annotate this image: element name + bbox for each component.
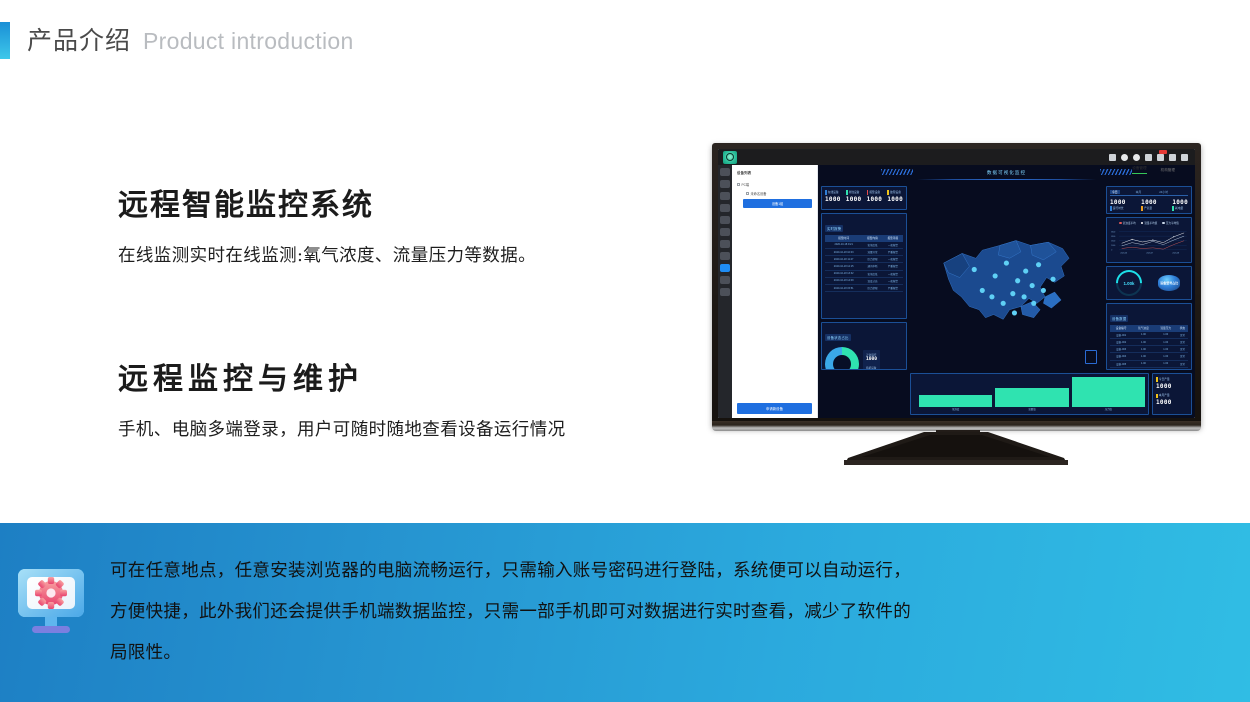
help-icon[interactable] [1133, 154, 1140, 161]
topbar-icon-group [1109, 154, 1191, 161]
kpi-label: 运行时长 [1113, 207, 1124, 210]
cell: 1.00 [1155, 346, 1177, 353]
kpi-label: 本月产量 [1159, 394, 1170, 397]
table-row: 2020-10-18 13:32氧浓度低一般报警 [825, 270, 903, 277]
cell: 正常 [1177, 353, 1188, 360]
trend-chart-panel: 氧浓度平均 流量平均值 压力平均值 [1106, 217, 1192, 263]
legend-label: 停机设备 [866, 367, 876, 370]
cell: 一般报警 [883, 277, 903, 284]
x-tick: 压力值 [1072, 407, 1145, 411]
dashboard: 设备列表 PC端 未命名设备 [718, 149, 1195, 418]
kpi-item: 报警设备 1000 [867, 190, 883, 203]
cell: 正常 [1177, 360, 1188, 367]
right-kpi-panel: 今日 本月 24小时 1000 运行时长 [1106, 186, 1192, 214]
table-row: 2020-10-18 10:03流量异常严重报警 [825, 248, 903, 255]
dashboard-main: 设备列表 PC端 未命名设备 [732, 165, 1195, 418]
cell: 严重报警 [883, 284, 903, 291]
home-icon[interactable] [720, 168, 730, 176]
cell: 1.00 [1155, 332, 1177, 339]
table-row: 设备-0041.001.00正常 [1110, 353, 1188, 360]
trophy-icon[interactable] [1109, 154, 1116, 161]
bar [995, 388, 1068, 408]
viz-center-column [910, 186, 1103, 370]
kpi-value: 1000 [1110, 199, 1126, 206]
cell: 正常 [1177, 367, 1188, 370]
svg-text:1000: 1000 [1111, 244, 1115, 246]
cell: 1.00 [1155, 338, 1177, 345]
feature-block-1: 远程智能监控系统 在线监测实时在线监测:氧气浓度、流量压力等数据。 [118, 184, 536, 270]
cell: 2020-10-18 9:21 [825, 242, 862, 249]
gauge-box: 1.00k [1110, 270, 1148, 296]
message-icon[interactable] [1121, 154, 1128, 161]
legend-value: 1000 [866, 357, 877, 362]
viz-title: 数据可视化监控 [987, 170, 1026, 176]
viz-right-column: 今日 本月 24小时 1000 运行时长 [1106, 186, 1192, 370]
cell: 1.00 [1155, 367, 1177, 370]
hatch-decoration-left [881, 169, 913, 175]
kpi-value: 1000 [1172, 199, 1188, 206]
dashboard-topbar [718, 149, 1195, 165]
kpi-value: 1000 [867, 196, 883, 203]
feature-description: 手机、电脑多端登录，用户可随时随地查看设备运行情况 [118, 416, 566, 444]
x-tick: 2020-06 [1120, 252, 1126, 254]
dashboard-body: 设备列表 PC端 未命名设备 [718, 165, 1195, 418]
cell: 压力超限 [862, 256, 882, 263]
column-header: 状态 [1177, 325, 1188, 332]
x-tick: 流量值 [995, 407, 1068, 411]
cell: 设备-003 [1110, 346, 1132, 353]
trend-line-chart: 35002500 150010000 [1110, 227, 1188, 257]
cell: 2020-10-18 12:15 [825, 263, 862, 270]
bar-chart-panel: 氧浓度 流量值 压力值 [910, 373, 1149, 415]
cell: 压力超限 [862, 284, 882, 291]
kpi-item: 1000 产氧量 [1141, 198, 1157, 211]
tree-node[interactable]: PC端 [737, 182, 812, 187]
cell: 一般报警 [883, 270, 903, 277]
cell: 设备-006 [1110, 367, 1132, 370]
column-header: 报警内容 [862, 235, 882, 242]
legend-label: 氧浓度平均 [1123, 221, 1136, 225]
tab-device-management[interactable]: 设备管理 [1132, 166, 1146, 174]
table-header-row: 设备编号 氧气浓度 流量压力 状态 [1110, 325, 1188, 332]
legend-label: 流量平均值 [1144, 221, 1157, 225]
cell: 一般报警 [883, 242, 903, 249]
table-row: 设备-0051.001.00正常 [1110, 360, 1188, 367]
legend-item: 流量平均值 [1141, 221, 1158, 225]
apply-new-device-button[interactable]: 申请新设备 [737, 403, 812, 414]
kpi-item: 离线设备 1000 [846, 190, 862, 203]
mail-icon[interactable] [1145, 154, 1152, 161]
cell: 氧浓度低 [862, 270, 882, 277]
info-line: 方便快捷，此外我们还会提供手机端数据监控，只需一部手机即可对数据进行实时查看，减… [110, 592, 1180, 633]
note-icon[interactable] [720, 216, 730, 224]
tv-stand [806, 432, 1106, 466]
kpi-label: 故障设备 [890, 191, 901, 194]
cell: 设备-001 [1110, 332, 1132, 339]
bell-icon[interactable] [1157, 154, 1164, 161]
kpi-item: 在线设备 1000 [825, 190, 841, 203]
kpi-value: 1000 [1156, 383, 1188, 390]
viz-bottom-strip: 氧浓度 流量值 压力值 今日产量 1000 [821, 373, 1192, 415]
user-icon[interactable] [720, 240, 730, 248]
page-title: 产品介绍 [27, 22, 131, 59]
tree-node-label: PC端 [742, 182, 750, 187]
kpi-label: 离线设备 [849, 191, 860, 194]
viz-grid: 在线设备 1000 离线设备 1000 [821, 186, 1192, 370]
table-row: 2020-10-18 14:09温度过高一般报警 [825, 277, 903, 284]
cell: 1.00 [1132, 367, 1154, 370]
panel-icon[interactable] [1181, 154, 1188, 161]
bar-x-labels: 氧浓度 流量值 压力值 [914, 407, 1145, 411]
kpi-item: 今日产量 1000 [1156, 377, 1188, 390]
monitor-gear-icon [12, 565, 90, 637]
user-icon[interactable] [1169, 154, 1176, 161]
production-gauge: 1.00k [1110, 266, 1147, 300]
cell: 2020-10-18 14:09 [825, 277, 862, 284]
tv-monitor: 设备列表 PC端 未命名设备 [706, 138, 1206, 468]
table-row: 设备-0031.001.00正常 [1110, 346, 1188, 353]
trend-legend: 氧浓度平均 流量平均值 压力平均值 [1110, 221, 1188, 225]
x-tick: 2020-07 [1146, 252, 1152, 254]
tab-month[interactable]: 本月 [1136, 190, 1142, 194]
svg-text:2500: 2500 [1111, 235, 1115, 237]
hatch-decoration-right [1100, 169, 1132, 175]
kpi-label: 今日产量 [1159, 378, 1170, 381]
cell: 设备-004 [1110, 353, 1132, 360]
donut-chart [825, 347, 859, 370]
cell: 1.00 [1132, 338, 1154, 345]
cell: 2020-10-18 15:51 [825, 284, 862, 291]
gauge-panel: 1.00k 设备型号占比 [1106, 266, 1192, 300]
table-row: 2020-10-18 12:15通讯中断严重报警 [825, 263, 903, 270]
info-line: 可在任意地点，任意安装浏览器的电脑流畅运行，只需输入账号密码进行登陆，系统便可以… [110, 551, 1180, 592]
cell: 1.00 [1132, 332, 1154, 339]
tree-node-label: 未命名设备 [751, 191, 767, 196]
gauge-value: 1.00k [1123, 281, 1134, 286]
bar [919, 395, 992, 407]
gear-icon[interactable] [720, 276, 730, 284]
kpi-label: 在线设备 [828, 191, 839, 194]
cell: 1.00 [1155, 360, 1177, 367]
table-row: 2020-10-18 9:21氧浓度低一般报警 [825, 242, 903, 249]
china-map-icon [926, 201, 1087, 354]
table-row: 设备-0011.001.00正常 [1110, 332, 1188, 339]
device-tree-title: 设备列表 [737, 170, 812, 175]
pie3d-label: 设备型号占比 [1160, 281, 1178, 285]
donut-legend: 正常运行 1000 停机设备 1000 [863, 350, 880, 370]
alarm-table: 报警时间 报警内容 报警等级 2020-10-18 9:21氧浓度低一般报警 2… [825, 235, 903, 292]
table-row: 设备-0021.001.00正常 [1110, 338, 1188, 345]
pie3d-box: 设备型号占比 [1151, 270, 1189, 296]
map-panel [910, 186, 1103, 370]
header-accent-bar [0, 22, 10, 59]
feature-title: 远程监控与维护 [118, 358, 566, 402]
kpi-item: 1000 运行时长 [1110, 198, 1126, 211]
cell: 流量异常 [862, 248, 882, 255]
cell: 严重报警 [883, 263, 903, 270]
donut-legend-item: 停机设备 1000 [866, 366, 877, 370]
device-icon[interactable] [720, 180, 730, 188]
tree-node-label: 设备1组 [772, 201, 783, 206]
cell: 1.00 [1132, 346, 1154, 353]
donut-legend-item: 正常运行 1000 [866, 353, 877, 362]
data-table-header: 设备数据 [1110, 315, 1128, 322]
cell: 通讯中断 [862, 263, 882, 270]
svg-text:0: 0 [1111, 249, 1112, 251]
svg-text:1500: 1500 [1111, 240, 1115, 242]
page-header: 产品介绍 Product introduction [0, 0, 1250, 90]
column-header: 报警等级 [883, 235, 903, 242]
visualization-board: 数据可视化监控 在线设 [818, 165, 1195, 418]
feature-description: 在线监测实时在线监测:氧气浓度、流量压力等数据。 [118, 242, 536, 270]
tab-24h[interactable]: 24小时 [1159, 190, 1168, 194]
right-kpi-tabs: 今日 本月 24小时 [1110, 190, 1188, 196]
legend-item: 压力平均值 [1162, 221, 1179, 225]
bar [1072, 377, 1145, 407]
info-band: 可在任意地点，任意安装浏览器的电脑流畅运行，只需输入账号密码进行登陆，系统便可以… [0, 523, 1250, 702]
legend-item: 氧浓度平均 [1119, 221, 1136, 225]
alarm-table-panel: 实时报警 报警时间 报警内容 报警等级 [821, 213, 907, 319]
device-tree-list: PC端 未命名设备 设备1组 [737, 182, 812, 208]
kpi-panel: 在线设备 1000 离线设备 1000 [821, 186, 907, 210]
kpi-item: 本月产量 1000 [1156, 394, 1188, 407]
checkbox-icon[interactable] [737, 183, 740, 186]
tv-screen: 设备列表 PC端 未命名设备 [718, 149, 1195, 418]
kpi-item: 1000 耗电量 [1172, 198, 1188, 211]
cloud-icon[interactable] [720, 252, 730, 260]
cell: 正常 [1177, 338, 1188, 345]
cell: 严重报警 [883, 248, 903, 255]
tab-org-management[interactable]: 机构管理 [1161, 168, 1175, 173]
alarm-table-header: 实时报警 [825, 225, 843, 232]
cell: 一般报警 [883, 256, 903, 263]
right-kpi-row: 1000 运行时长 1000 产氧量 [1110, 198, 1188, 211]
kpi-value: 1000 [1156, 399, 1188, 406]
column-header: 流量压力 [1155, 325, 1177, 332]
donut-panel: 设备状态占比 正常运行 1000 [821, 322, 907, 370]
cell: 1.00 [1132, 360, 1154, 367]
settings-icon[interactable] [720, 228, 730, 236]
feature-title: 远程智能监控系统 [118, 184, 536, 228]
tree-node[interactable]: 未命名设备 [737, 191, 812, 196]
cell: 正常 [1177, 332, 1188, 339]
chart-icon[interactable] [720, 204, 730, 212]
page-subtitle: Product introduction [143, 24, 354, 59]
table-row: 设备-0061.001.00正常 [1110, 367, 1188, 370]
kpi-label: 耗电量 [1175, 207, 1183, 210]
table-row: 2020-10-18 11:47压力超限一般报警 [825, 256, 903, 263]
kpi-value: 1000 [846, 196, 862, 203]
kpi-value: 1000 [1141, 199, 1157, 206]
bar-chart [914, 377, 1145, 407]
kpi-value: 1000 [887, 196, 903, 203]
kpi-label: 产氧量 [1144, 207, 1152, 210]
dashboard-sidebar-rail [718, 165, 732, 418]
svg-text:3500: 3500 [1111, 231, 1115, 233]
table-header-row: 报警时间 报警内容 报警等级 [825, 235, 903, 242]
x-tick: 2020-08 [1172, 252, 1178, 254]
cell: 正常 [1177, 346, 1188, 353]
donut-header: 设备状态占比 [825, 334, 851, 341]
column-header: 设备编号 [1110, 325, 1132, 332]
tv-bezel: 设备列表 PC端 未命名设备 [712, 143, 1201, 428]
cell: 2020-10-18 11:47 [825, 256, 862, 263]
side-kpi-panel: 今日产量 1000 本月产量 1000 [1152, 373, 1192, 415]
cell: 温度过高 [862, 277, 882, 284]
cell: 2020-10-18 13:32 [825, 270, 862, 277]
data-table-panel: 设备数据 设备编号 氧气浓度 流量压力 状态 [1106, 303, 1192, 370]
cell: 设备-005 [1110, 360, 1132, 367]
viz-left-column: 在线设备 1000 离线设备 1000 [821, 186, 907, 370]
column-header: 氧气浓度 [1132, 325, 1154, 332]
alarm-icon[interactable] [720, 192, 730, 200]
cell: 1.00 [1155, 353, 1177, 360]
donut-chart-area: 正常运行 1000 停机设备 1000 [825, 344, 903, 370]
kpi-label: 报警设备 [869, 191, 880, 194]
x-tick: 氧浓度 [919, 407, 992, 411]
cell: 设备-002 [1110, 338, 1132, 345]
cell: 1.00 [1132, 353, 1154, 360]
pie3d-chart: 设备型号占比 [1158, 275, 1180, 291]
device-tree-panel: 设备列表 PC端 未命名设备 [732, 165, 818, 418]
info-line: 局限性。 [110, 633, 1180, 674]
tree-node-selected[interactable]: 设备1组 [743, 199, 812, 208]
viz-divider [917, 179, 1096, 180]
checkbox-icon[interactable] [746, 192, 749, 195]
legend-label: 压力平均值 [1166, 221, 1179, 225]
info-band-text: 可在任意地点，任意安装浏览器的电脑流畅运行，只需输入账号密码进行登陆，系统便可以… [110, 551, 1180, 674]
column-header: 报警时间 [825, 235, 862, 242]
kpi-value: 1000 [825, 196, 841, 203]
product-introduction-page: 产品介绍 Product introduction 远程智能监控系统 在线监测实… [0, 0, 1250, 702]
kpi-item: 故障设备 1000 [887, 190, 903, 203]
map-minimap [1085, 350, 1097, 364]
tab-today[interactable]: 今日 [1110, 190, 1120, 194]
dashboard-tabs: 设备管理 机构管理 [1132, 166, 1175, 174]
grid-icon[interactable] [720, 288, 730, 296]
app-logo-icon [723, 151, 737, 164]
kpi-row: 在线设备 1000 离线设备 1000 [825, 190, 903, 203]
feature-block-2: 远程监控与维护 手机、电脑多端登录，用户可随时随地查看设备运行情况 [118, 358, 566, 444]
gauge-row: 1.00k 设备型号占比 [1110, 270, 1188, 296]
table-row: 2020-10-18 15:51压力超限严重报警 [825, 284, 903, 291]
cell: 氧浓度低 [862, 242, 882, 249]
cell: 2020-10-18 10:03 [825, 248, 862, 255]
monitor-icon[interactable] [720, 264, 730, 272]
device-data-table: 设备编号 氧气浓度 流量压力 状态 设备-0011.001.00正常 [1110, 325, 1188, 370]
